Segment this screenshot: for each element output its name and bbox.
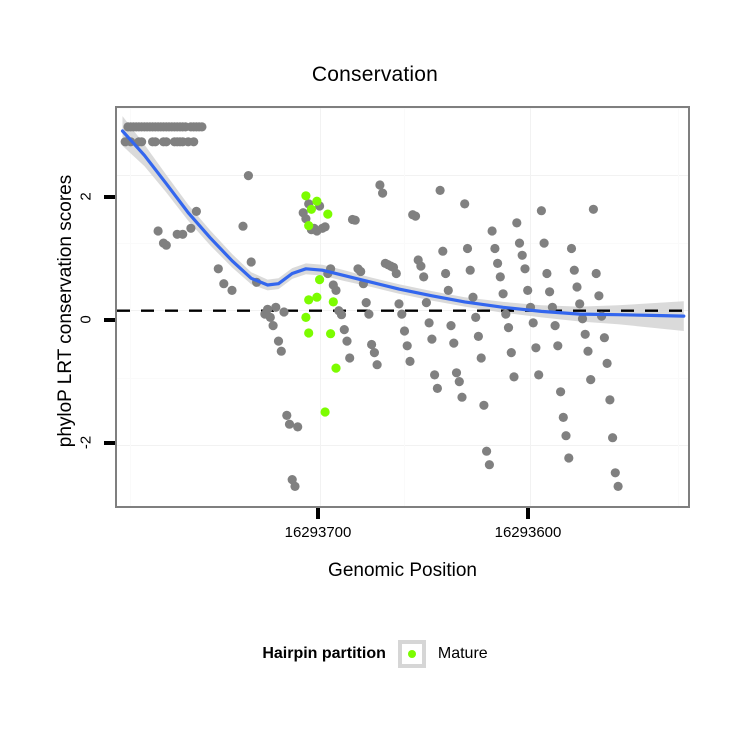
y-tick-label: -2 — [78, 428, 95, 458]
data-point — [518, 251, 527, 260]
data-point — [520, 264, 529, 273]
data-point — [471, 313, 480, 322]
data-point — [326, 329, 335, 338]
data-layer — [117, 108, 690, 508]
data-point — [342, 337, 351, 346]
data-point — [411, 212, 420, 221]
data-point — [581, 330, 590, 339]
data-point — [244, 171, 253, 180]
data-point — [375, 180, 384, 189]
data-point — [614, 482, 623, 491]
data-point — [446, 321, 455, 330]
legend-key-swatch — [402, 644, 422, 664]
data-point — [162, 241, 171, 250]
data-point — [583, 347, 592, 356]
data-point — [564, 453, 573, 462]
data-point — [337, 310, 346, 319]
data-point — [531, 343, 540, 352]
data-point — [189, 137, 198, 146]
data-point — [438, 247, 447, 256]
legend-label-mature: Mature — [438, 645, 488, 663]
data-point — [340, 325, 349, 334]
data-point — [603, 359, 612, 368]
data-point — [419, 272, 428, 281]
data-point — [304, 328, 313, 337]
page-title: Conservation — [0, 63, 750, 87]
data-point — [515, 239, 524, 248]
data-point — [537, 206, 546, 215]
data-point — [315, 275, 324, 284]
data-point — [238, 222, 247, 231]
data-point — [331, 286, 340, 295]
data-point — [394, 299, 403, 308]
data-point — [247, 257, 256, 266]
data-point — [416, 262, 425, 271]
data-point — [553, 341, 562, 350]
x-tick-mark — [316, 508, 320, 519]
data-point — [608, 433, 617, 442]
data-point — [488, 226, 497, 235]
data-point — [556, 387, 565, 396]
data-point — [214, 264, 223, 273]
data-point — [570, 266, 579, 275]
data-point — [277, 347, 286, 356]
data-point — [449, 339, 458, 348]
data-point — [559, 413, 568, 422]
data-point — [534, 370, 543, 379]
data-point — [474, 332, 483, 341]
y-tick-mark — [104, 441, 115, 445]
data-point — [482, 447, 491, 456]
data-point — [345, 353, 354, 362]
data-point — [331, 364, 340, 373]
data-point — [507, 348, 516, 357]
data-point — [219, 279, 228, 288]
mature-dot-icon — [408, 650, 416, 658]
x-tick-label: 16293700 — [258, 524, 378, 541]
data-point — [455, 377, 464, 386]
data-point — [192, 207, 201, 216]
legend: Hairpin partition Mature — [0, 640, 750, 668]
data-point — [504, 323, 513, 332]
data-point — [463, 244, 472, 253]
data-point — [373, 360, 382, 369]
data-point — [137, 137, 146, 146]
data-point — [567, 244, 576, 253]
data-point — [304, 221, 313, 230]
data-point — [422, 298, 431, 307]
data-point — [321, 407, 330, 416]
data-point — [392, 269, 401, 278]
data-point — [367, 340, 376, 349]
data-point — [269, 321, 278, 330]
data-point — [561, 431, 570, 440]
x-axis-title: Genomic Position — [115, 560, 690, 582]
data-point — [290, 482, 299, 491]
legend-key-mature[interactable] — [398, 640, 426, 668]
data-point — [572, 282, 581, 291]
data-point — [162, 137, 171, 146]
data-point — [362, 298, 371, 307]
data-point — [433, 384, 442, 393]
data-point — [542, 269, 551, 278]
data-point — [430, 370, 439, 379]
data-point — [592, 269, 601, 278]
data-point — [551, 321, 560, 330]
data-point — [364, 310, 373, 319]
data-point — [307, 205, 316, 214]
data-point — [512, 218, 521, 227]
data-point — [540, 239, 549, 248]
plot-panel — [115, 106, 690, 508]
data-point — [321, 222, 330, 231]
data-point — [600, 333, 609, 342]
data-point — [378, 189, 387, 198]
data-point — [285, 420, 294, 429]
data-point — [425, 318, 434, 327]
data-point — [266, 313, 275, 322]
data-point — [405, 357, 414, 366]
data-point — [301, 313, 310, 322]
data-point — [529, 318, 538, 327]
data-point — [594, 291, 603, 300]
data-point — [186, 224, 195, 233]
data-point — [501, 310, 510, 319]
data-point — [490, 244, 499, 253]
data-point — [575, 299, 584, 308]
data-point — [312, 197, 321, 206]
y-tick-label: 2 — [78, 182, 95, 212]
data-point — [545, 287, 554, 296]
data-point — [351, 216, 360, 225]
conservation-scatter-figure: Conservation phyloP LRT conservation sco… — [0, 0, 750, 750]
data-point — [444, 286, 453, 295]
data-point — [227, 286, 236, 295]
data-point — [611, 468, 620, 477]
data-point — [589, 205, 598, 214]
data-point — [197, 122, 206, 131]
data-point — [151, 137, 160, 146]
data-point — [400, 326, 409, 335]
data-point — [586, 375, 595, 384]
data-point — [479, 401, 488, 410]
data-point — [499, 289, 508, 298]
data-point — [403, 341, 412, 350]
data-point — [468, 293, 477, 302]
data-point — [496, 272, 505, 281]
data-point — [427, 335, 436, 344]
x-tick-label: 16293600 — [468, 524, 588, 541]
data-point — [460, 199, 469, 208]
data-point — [397, 310, 406, 319]
y-tick-label: 0 — [78, 305, 95, 335]
data-point — [329, 297, 338, 306]
data-point — [279, 307, 288, 316]
data-point — [493, 259, 502, 268]
data-point — [304, 295, 313, 304]
data-point — [370, 348, 379, 357]
data-point — [436, 186, 445, 195]
data-point — [271, 303, 280, 312]
data-point — [274, 337, 283, 346]
data-point — [441, 269, 450, 278]
y-tick-mark — [104, 318, 115, 322]
data-point — [178, 230, 187, 239]
y-tick-mark — [104, 195, 115, 199]
data-point — [301, 191, 310, 200]
legend-title: Hairpin partition — [262, 645, 386, 663]
data-point — [452, 368, 461, 377]
data-point — [605, 395, 614, 404]
data-point — [523, 286, 532, 295]
data-point — [312, 293, 321, 302]
data-point — [457, 393, 466, 402]
data-point — [263, 305, 272, 314]
data-point — [293, 422, 302, 431]
y-axis-title: phyloP LRT conservation scores — [55, 111, 77, 511]
data-point — [466, 266, 475, 275]
x-tick-mark — [526, 508, 530, 519]
data-point — [485, 460, 494, 469]
loess-trend-line — [123, 131, 684, 316]
data-point — [282, 411, 291, 420]
data-point — [356, 267, 365, 276]
data-point — [509, 372, 518, 381]
data-point — [477, 353, 486, 362]
data-point — [323, 210, 332, 219]
data-point — [154, 226, 163, 235]
